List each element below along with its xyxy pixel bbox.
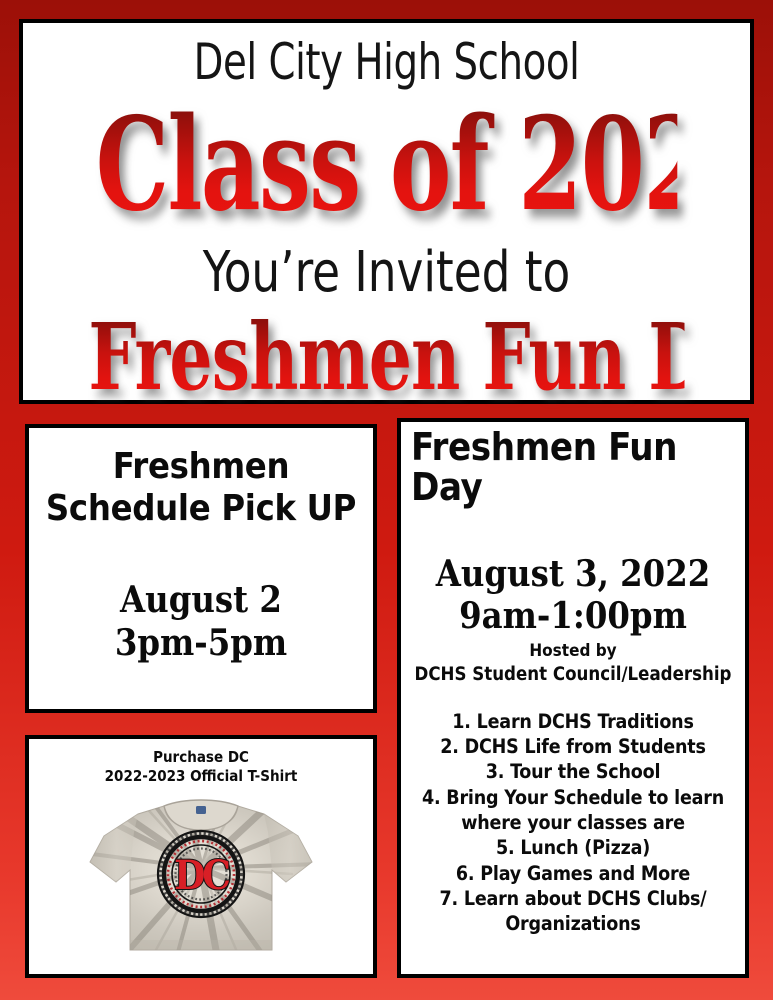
hosted-by-block: Hosted by DCHS Student Council/Leadershi… — [409, 641, 737, 686]
hosted-by-label: Hosted by — [409, 641, 737, 663]
schedule-heading-line1: Freshmen — [39, 446, 363, 488]
list-item: 4. Bring Your Schedule to learn — [409, 785, 737, 810]
tshirt-caption: Purchase DC 2022-2023 Official T-Shirt — [37, 748, 365, 786]
schedule-date: August 2 — [39, 579, 363, 622]
header-panel: Del City High School Class of 2026 You’r… — [19, 19, 754, 404]
schedule-pickup-panel: Freshmen Schedule Pick UP August 2 3pm-5… — [25, 424, 377, 713]
list-item: 3. Tour the School — [409, 759, 737, 784]
tshirt-caption-line1: Purchase DC — [37, 748, 365, 767]
list-item: where your classes are — [409, 810, 737, 835]
event-detail-panel: Freshmen Fun Day August 3, 2022 9am-1:00… — [397, 418, 749, 978]
activity-list: 1. Learn DCHS Traditions 2. DCHS Life fr… — [409, 709, 737, 937]
invitation-line: You’re Invited to — [59, 245, 713, 301]
flyer-poster: Del City High School Class of 2026 You’r… — [0, 0, 773, 1000]
svg-text:DC: DC — [174, 852, 229, 899]
schedule-datetime: August 2 3pm-5pm — [39, 579, 363, 665]
detail-datetime: August 3, 2022 9am-1:00pm — [409, 554, 737, 638]
tshirt-image: DC — [86, 790, 316, 958]
list-item: 5. Lunch (Pizza) — [409, 835, 737, 860]
host-organization: DCHS Student Council/Leadership — [409, 663, 737, 687]
event-title-heading: Freshmen Fun Day — [88, 311, 684, 403]
schedule-heading-line2: Schedule Pick UP — [39, 488, 363, 530]
list-item: 7. Learn about DCHS Clubs/ — [409, 886, 737, 911]
detail-date: August 3, 2022 — [409, 554, 737, 596]
list-item: 2. DCHS Life from Students — [409, 734, 737, 759]
detail-title: Freshmen Fun Day — [409, 428, 737, 508]
school-name: Del City High School — [74, 37, 699, 87]
class-of-heading: Class of 2026 — [96, 101, 678, 229]
schedule-heading: Freshmen Schedule Pick UP — [39, 446, 363, 531]
tshirt-panel: Purchase DC 2022-2023 Official T-Shirt — [25, 735, 377, 978]
list-item: 1. Learn DCHS Traditions — [409, 709, 737, 734]
detail-time: 9am-1:00pm — [409, 596, 737, 638]
list-item: 6. Play Games and More — [409, 861, 737, 886]
tshirt-caption-line2: 2022-2023 Official T-Shirt — [37, 767, 365, 786]
list-item: Organizations — [409, 911, 737, 936]
schedule-time: 3pm-5pm — [39, 622, 363, 665]
